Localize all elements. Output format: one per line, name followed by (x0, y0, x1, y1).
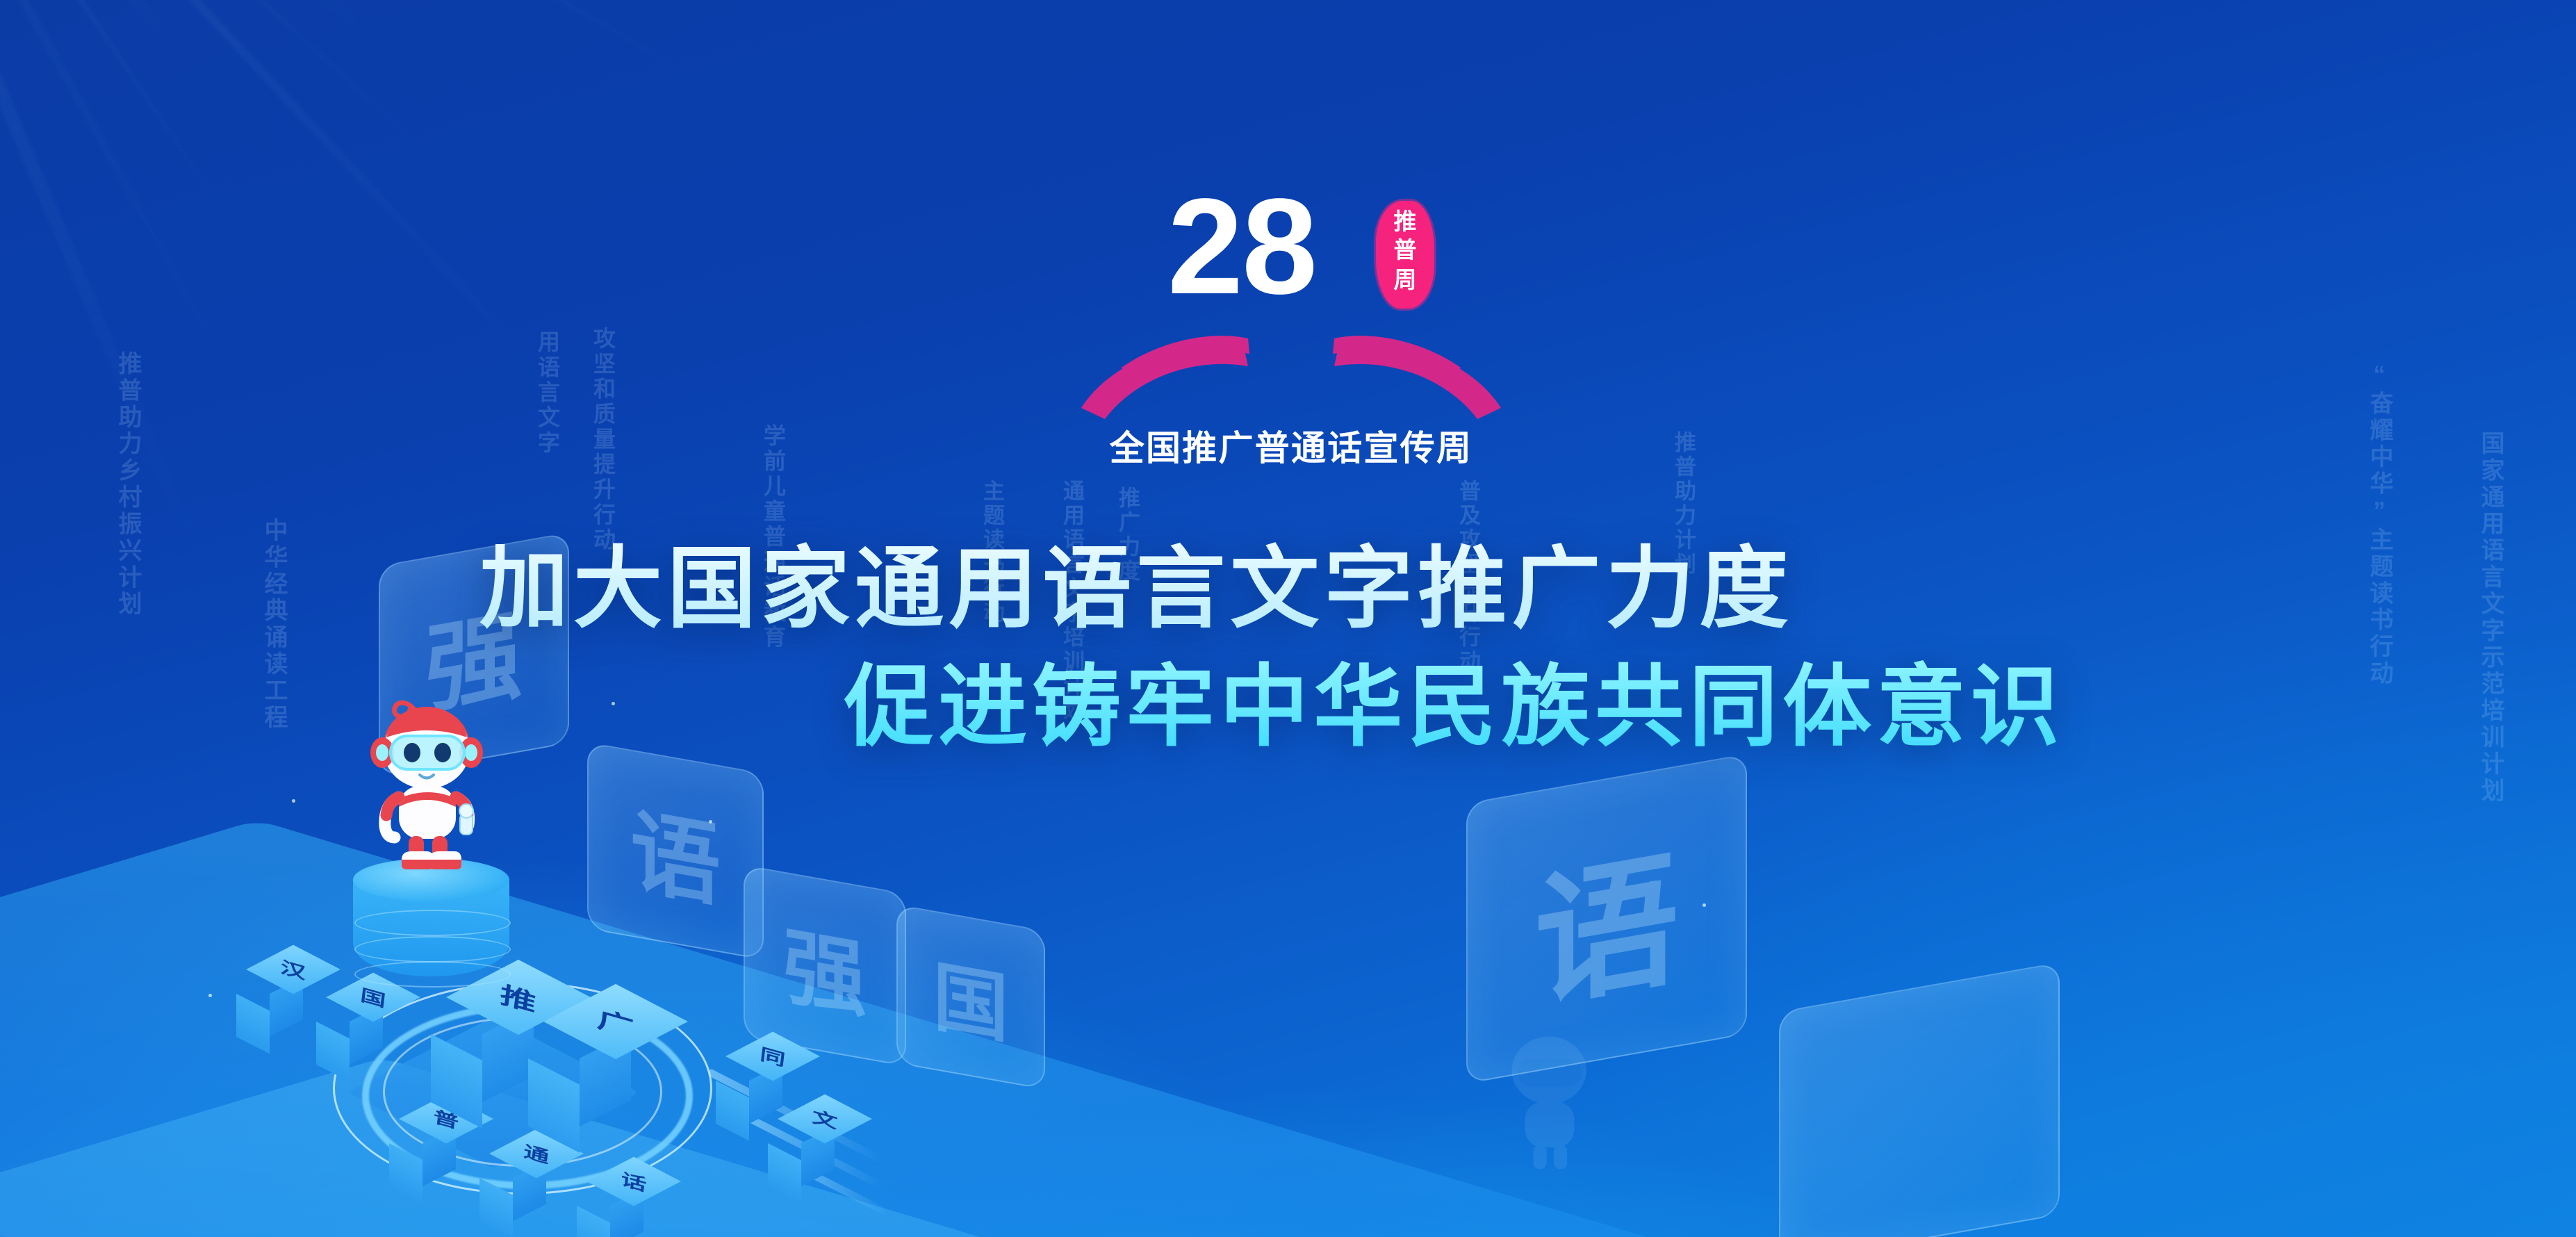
glass-card-char: 语 (630, 778, 721, 924)
stamp-char-2: 普 (1376, 238, 1434, 261)
logo-tagline: 全国推广普通话宣传周 (1062, 420, 1520, 470)
headline-line-1: 加大国家通用语言文字推广力度 (0, 542, 2576, 637)
light-ray (0, 0, 406, 480)
iso-cube: 国 (316, 997, 383, 1078)
background-phrase: 攻坚和质量提升行动 (587, 327, 619, 552)
cube-char: 同 (759, 1041, 787, 1071)
glass-card: 语 (587, 742, 764, 960)
iso-cube: 通 (479, 1154, 546, 1234)
cube-char: 广 (596, 1000, 636, 1044)
light-ray (0, 0, 516, 70)
poster-canvas: 推普助力乡村振兴计划中华经典诵读工程用语言文字攻坚和质量提升行动学前儿童普通话教… (0, 0, 2576, 1237)
cube-char: 话 (620, 1166, 648, 1196)
glass-card: 国 (896, 904, 1045, 1090)
iso-cube-big-guang: 广 (528, 1022, 632, 1147)
light-ray (0, 0, 762, 467)
background-phrase: 用语言文字 (532, 330, 564, 456)
glass-card-char: 强 (783, 898, 867, 1033)
iso-cube: 普 (389, 1119, 456, 1199)
sparkle-dot (1703, 903, 1706, 907)
open-book-icon (1062, 323, 1520, 413)
cube-char: 汉 (279, 954, 307, 984)
event-logo: 28 推 普 周 全国推广普通话宣传周 (1062, 184, 1520, 476)
logo-edition-number: 28 (1167, 179, 1316, 315)
headline-line-2: 促进铸牢中华民族共同体意识 (0, 660, 2576, 755)
sparkle-dot (292, 799, 295, 803)
sparkle-dot (208, 994, 212, 997)
headline-block: 加大国家通用语言文字推广力度 促进铸牢中华民族共同体意识 (0, 542, 2576, 754)
glass-card-char: 国 (933, 935, 1009, 1058)
light-ray (0, 0, 1136, 334)
iso-cube-big-tui: 推 (431, 997, 535, 1122)
stamp-char-3: 周 (1376, 268, 1434, 291)
sparkle-dot (709, 820, 712, 824)
iso-cube: 汉 (236, 969, 303, 1050)
ghost-mascot (1480, 1008, 1619, 1192)
glass-card (1779, 962, 2060, 1237)
tuipuzhou-stamp: 推 普 周 (1376, 201, 1434, 309)
light-ray (0, 0, 998, 127)
iso-cube: 话 (577, 1181, 643, 1237)
light-ray (0, 0, 651, 264)
glass-card-char: 语 (1534, 801, 1679, 1036)
light-ray (0, 0, 345, 255)
iso-cube: 文 (768, 1119, 835, 1199)
cube-char: 文 (811, 1104, 839, 1133)
stamp-char-1: 推 (1376, 210, 1434, 233)
